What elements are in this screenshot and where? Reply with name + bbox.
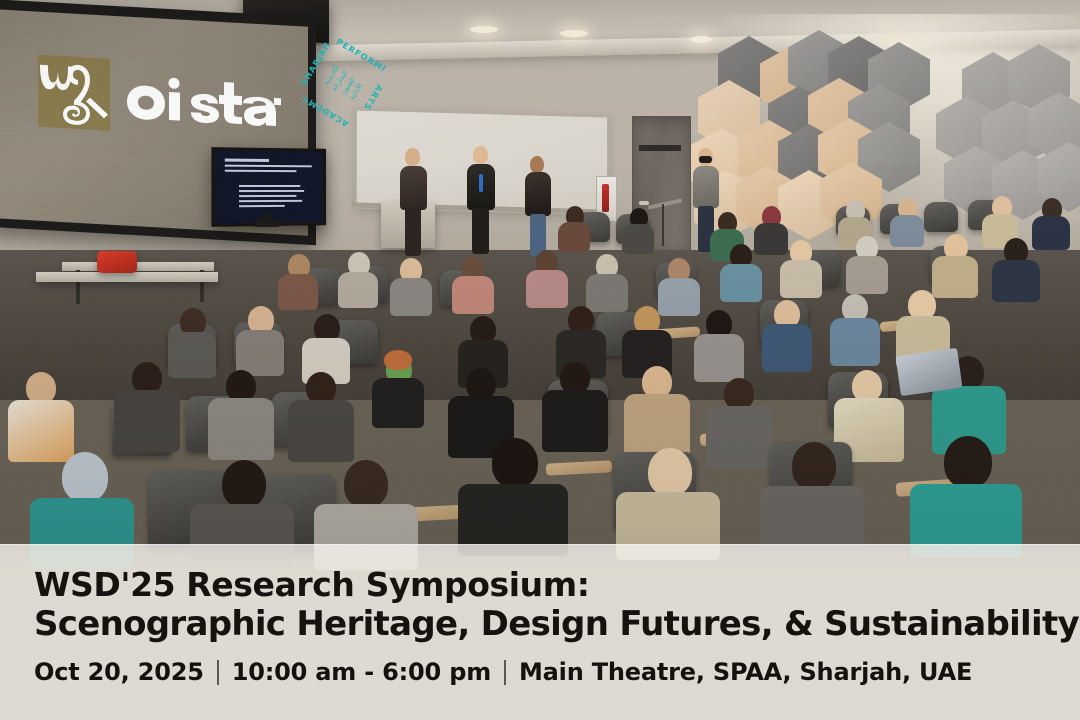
audience-torso <box>288 400 354 462</box>
slide-text-line <box>225 159 269 162</box>
audience-head <box>222 460 266 508</box>
audience-torso <box>706 406 772 468</box>
wsd-logo <box>38 55 110 131</box>
audience-torso <box>8 400 74 462</box>
event-banner: WSD'25 Research Symposium: Scenographic … <box>0 544 1080 720</box>
audience-torso <box>762 324 812 372</box>
audience-head <box>62 452 108 502</box>
slide-text-line <box>225 170 297 172</box>
event-location: Main Theatre, SPAA, Sharjah, UAE <box>519 658 972 686</box>
front-table <box>62 262 214 271</box>
audience-torso <box>208 398 274 460</box>
audience-torso <box>542 390 608 452</box>
audience-torso <box>780 260 822 298</box>
downlight-icon <box>690 36 712 43</box>
presenter-legs <box>472 208 489 254</box>
slide-text-line <box>239 200 302 202</box>
monitor-stand <box>255 219 279 227</box>
audience-head <box>792 442 836 490</box>
audience-torso <box>694 334 744 382</box>
fire-extinguisher-icon <box>602 184 609 212</box>
audience-head <box>648 448 692 496</box>
music-stand-pole <box>662 204 664 246</box>
audience-head <box>344 460 388 508</box>
audience-torso <box>1032 216 1070 250</box>
audience-torso <box>526 270 568 308</box>
event-poster: PERFORMING ARTS ACADEMY SHARJAH أكاديمية… <box>0 0 1080 720</box>
attendee-torso <box>693 166 719 208</box>
slide-text-line <box>239 195 296 197</box>
audience-head <box>944 436 992 488</box>
audience-torso <box>278 274 318 310</box>
audience-torso <box>168 332 216 378</box>
audience-torso <box>754 223 788 255</box>
audience-torso <box>624 394 690 456</box>
audience-torso <box>372 378 424 428</box>
seat-tablet-arm <box>546 460 613 475</box>
audience-torso <box>622 224 654 254</box>
audience-head <box>384 350 412 370</box>
front-table <box>36 272 218 282</box>
title-line-2: Scenographic Heritage, Design Futures, &… <box>34 605 1046 645</box>
slide-text-line <box>239 185 300 187</box>
audience-torso <box>586 274 628 312</box>
banner-top-edge <box>0 544 1080 545</box>
slide-text-line <box>225 165 312 168</box>
audience-head <box>492 438 538 488</box>
presenter-head <box>473 146 488 164</box>
audience-torso <box>236 330 284 376</box>
audience-torso <box>846 256 888 294</box>
oistat-wordmark <box>126 71 281 136</box>
downlight-icon <box>470 26 498 33</box>
door-handle-icon <box>639 201 649 205</box>
audience-torso <box>114 390 180 452</box>
audience-torso <box>452 276 494 314</box>
audience-torso <box>558 222 590 252</box>
audience-torso <box>658 278 700 316</box>
presenter-head <box>405 148 420 166</box>
audience-torso <box>992 260 1040 302</box>
audience-torso <box>720 264 762 302</box>
audience-torso <box>932 256 978 298</box>
page-title: WSD'25 Research Symposium: Scenographic … <box>34 566 1046 644</box>
event-meta: Oct 20, 2025 10:00 am - 6:00 pm Main The… <box>34 658 1046 686</box>
presenter-torso <box>400 166 427 210</box>
event-date: Oct 20, 2025 <box>34 658 204 686</box>
presenter-legs <box>405 208 421 256</box>
slide-text-line <box>239 205 285 207</box>
slide-text-line <box>239 190 304 192</box>
meta-separator-icon <box>217 660 219 685</box>
door-window <box>639 145 681 151</box>
presenter-lanyard <box>479 174 483 192</box>
laptop <box>896 348 963 396</box>
title-line-1: WSD'25 Research Symposium: <box>34 565 590 604</box>
red-bag <box>97 251 137 273</box>
audience-torso <box>338 272 378 308</box>
auditorium-seat <box>924 202 958 232</box>
face-mask-icon <box>699 156 712 163</box>
presenter-torso <box>525 172 551 216</box>
audience-torso <box>390 278 432 316</box>
audience-torso <box>890 215 924 247</box>
meta-separator-icon <box>504 660 506 685</box>
event-time: 10:00 am - 6:00 pm <box>232 658 491 686</box>
audience-torso <box>830 318 880 366</box>
presenter-head <box>530 156 544 173</box>
downlight-icon <box>560 30 588 37</box>
